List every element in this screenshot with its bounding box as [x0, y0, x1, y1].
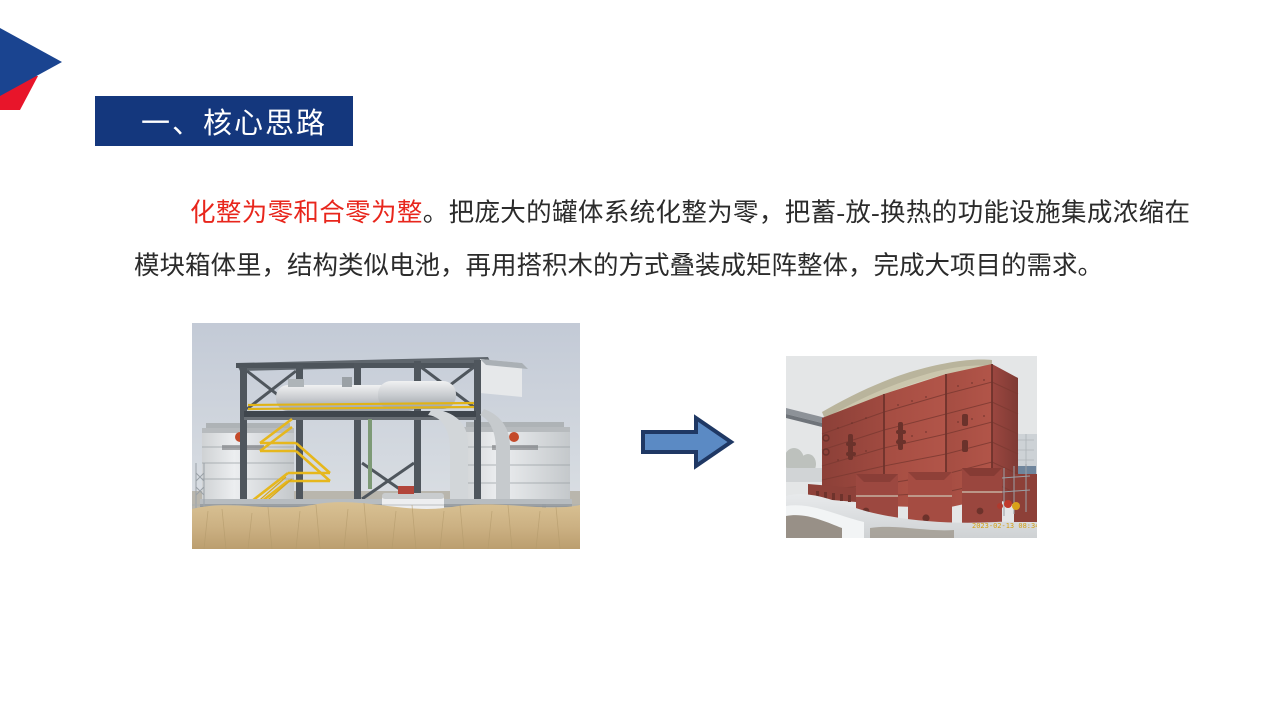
section-title-bar: 一、核心思路 [95, 96, 353, 146]
photo-modules: 2023-02-13 08:34 [786, 356, 1037, 538]
page-title: 一、核心思路 [115, 100, 333, 142]
photo-plant [192, 323, 580, 549]
body-paragraph: 化整为零和合零为整。把庞大的罐体系统化整为零，把蓄-放-换热的功能设施集成浓缩在… [134, 186, 1190, 292]
right-block-arrow [639, 413, 735, 471]
highlight-phrase: 化整为零和合零为整 [190, 198, 423, 227]
photo-timestamp: 2023-02-13 08:34 [972, 522, 1037, 530]
company-logo [0, 14, 62, 110]
